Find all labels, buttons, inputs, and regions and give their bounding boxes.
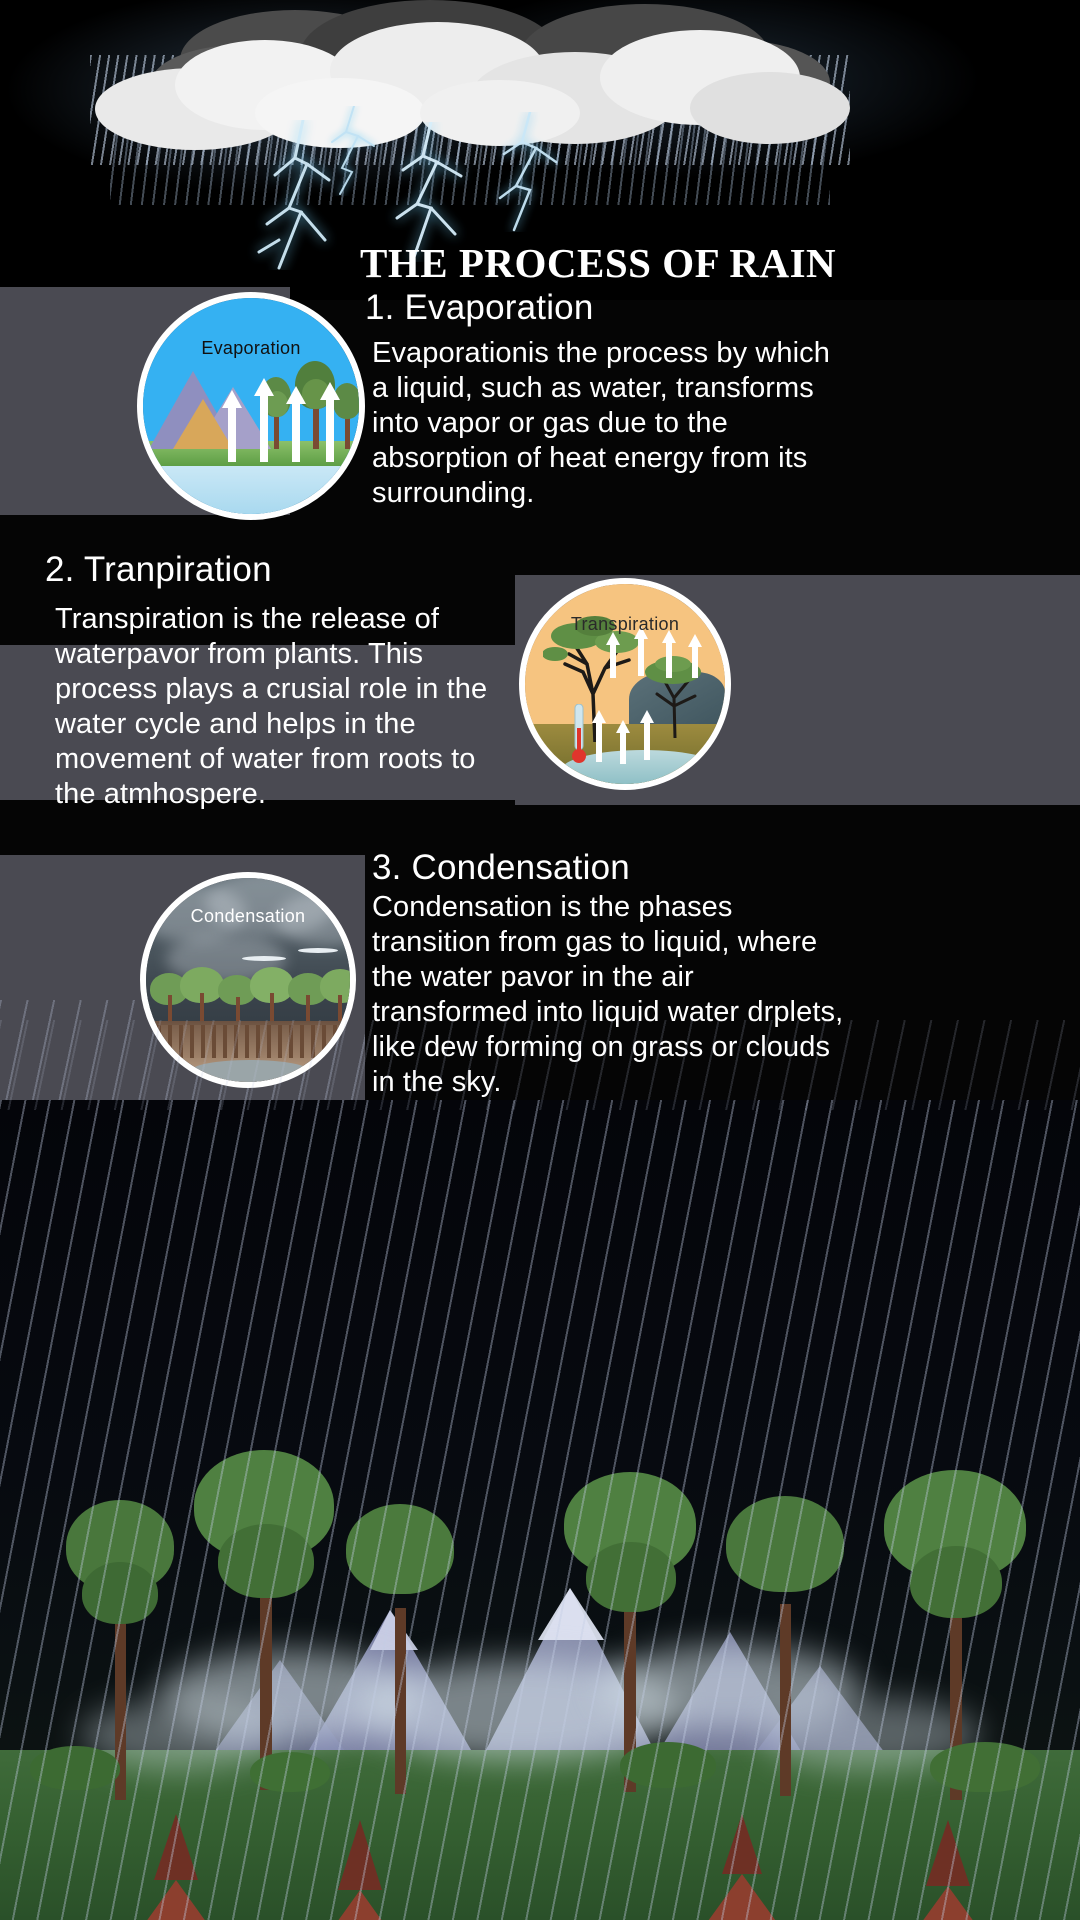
section-1-heading: 1. Evaporation: [365, 288, 965, 328]
condensation-puddle: [191, 1060, 309, 1082]
vapor-arrow-icon: [253, 378, 275, 462]
section-3-heading: 3. Condensation: [372, 848, 932, 888]
tree-trunk: [270, 993, 274, 1021]
vapor-arrow-icon: [639, 710, 655, 760]
thermometer-icon: [571, 704, 587, 766]
section-2-body: Transpiration is the release of waterpav…: [55, 602, 515, 812]
condensation-circle-illustration: Condensation: [140, 872, 356, 1088]
vapor-arrow-icon: [591, 710, 607, 762]
tree-trunk: [168, 995, 172, 1021]
white-cloud: [690, 72, 850, 144]
section-1-body: Evaporationis the process by which a liq…: [372, 336, 840, 511]
vapor-arrow-icon: [661, 630, 677, 678]
section-3-body: Condensation is the phases transition fr…: [372, 890, 852, 1100]
lightning-bolt-icon: [490, 112, 580, 232]
lightning-bolt-icon: [320, 106, 390, 196]
transpiration-circle-label: Transpiration: [525, 614, 725, 635]
evaporation-circle-illustration: Evaporation: [137, 292, 365, 520]
vapor-arrow-icon: [285, 386, 307, 462]
condensation-circle-label: Condensation: [146, 906, 350, 927]
tree-trunk: [236, 997, 240, 1021]
cloud-streak: [298, 948, 338, 953]
evaporation-circle-label: Evaporation: [143, 338, 359, 359]
wooden-fence: [146, 1025, 350, 1058]
page-title: THE PROCESS OF RAIN: [360, 242, 1020, 285]
tree-trunk: [200, 993, 204, 1021]
scene-rain-overlay: [0, 1100, 1080, 1920]
tree-trunk: [338, 995, 342, 1021]
vapor-arrow-icon: [605, 632, 621, 678]
tree-trunk: [306, 995, 310, 1021]
vapor-arrow-icon: [615, 720, 631, 764]
transpiration-circle-illustration: Transpiration: [519, 578, 731, 790]
vapor-arrow-icon: [687, 634, 703, 678]
infographic-poster: THE PROCESS OF RAIN: [0, 0, 1080, 1920]
vapor-arrow-icon: [221, 390, 243, 462]
cloud-streak: [242, 956, 286, 961]
section-2-heading: 2. Tranpiration: [45, 550, 545, 590]
tree-row: [146, 965, 350, 1021]
vapor-arrow-icon: [319, 382, 341, 462]
rainy-forest-scene: [0, 1100, 1080, 1920]
